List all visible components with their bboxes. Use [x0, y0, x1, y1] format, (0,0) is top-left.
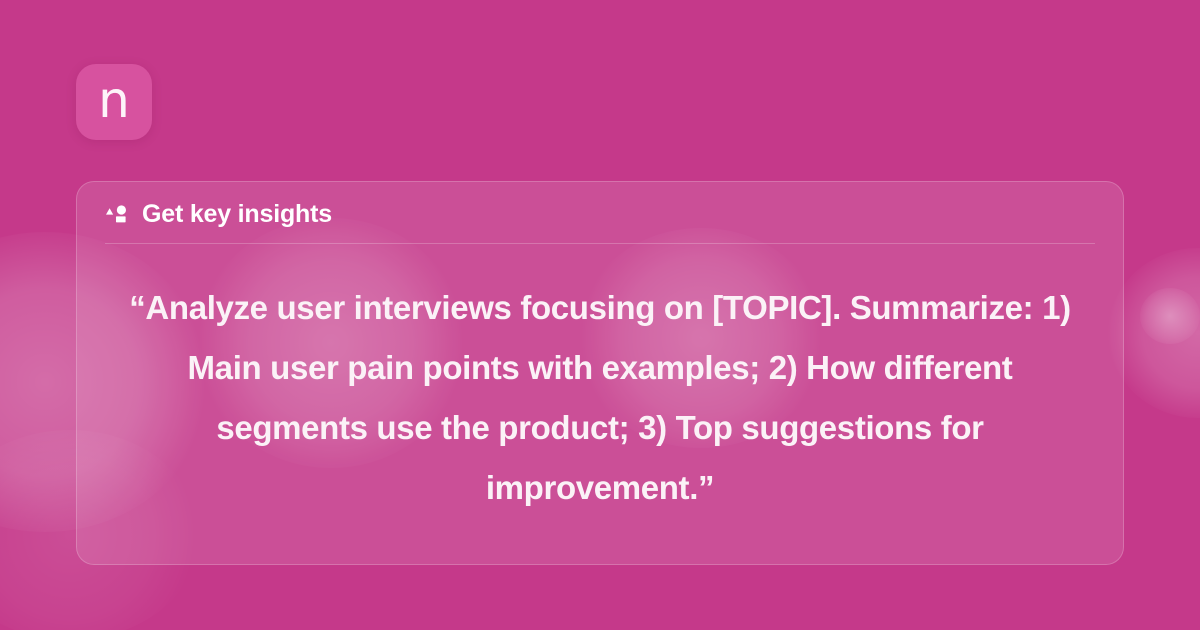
prompt-card-title: Get key insights: [142, 200, 332, 229]
background-glow-right-accent: [1140, 288, 1200, 344]
prompt-quote-text: “Analyze user interviews focusing on [TO…: [77, 244, 1123, 518]
shapes-icon: [105, 203, 129, 227]
app-logo: n: [76, 64, 152, 140]
poster-canvas: n Get key insights “Analyze user intervi…: [0, 0, 1200, 630]
prompt-card: Get key insights “Analyze user interview…: [76, 181, 1124, 565]
prompt-card-header: Get key insights: [77, 182, 1123, 224]
logo-letter-n: n: [98, 75, 130, 125]
